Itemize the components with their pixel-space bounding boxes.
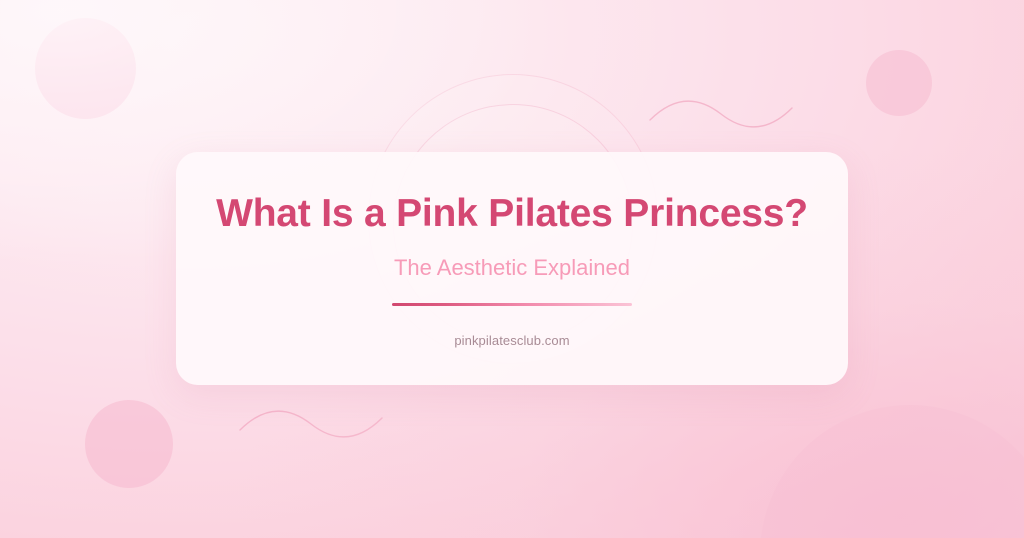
page-subtitle: The Aesthetic Explained (394, 257, 630, 279)
circle-bottom-left-decor (85, 400, 173, 488)
circle-top-right-decor (866, 50, 932, 116)
circle-top-left-decor (35, 18, 136, 119)
content-card: What Is a Pink Pilates Princess? The Aes… (176, 152, 848, 385)
page-title: What Is a Pink Pilates Princess? (216, 194, 808, 233)
site-url: pinkpilatesclub.com (454, 334, 569, 347)
wave-top-right-decor (648, 92, 794, 136)
circle-bottom-right-decor (760, 405, 1024, 538)
title-divider (392, 303, 632, 306)
wave-bottom-left-decor (238, 402, 384, 446)
share-card-canvas: What Is a Pink Pilates Princess? The Aes… (0, 0, 1024, 538)
